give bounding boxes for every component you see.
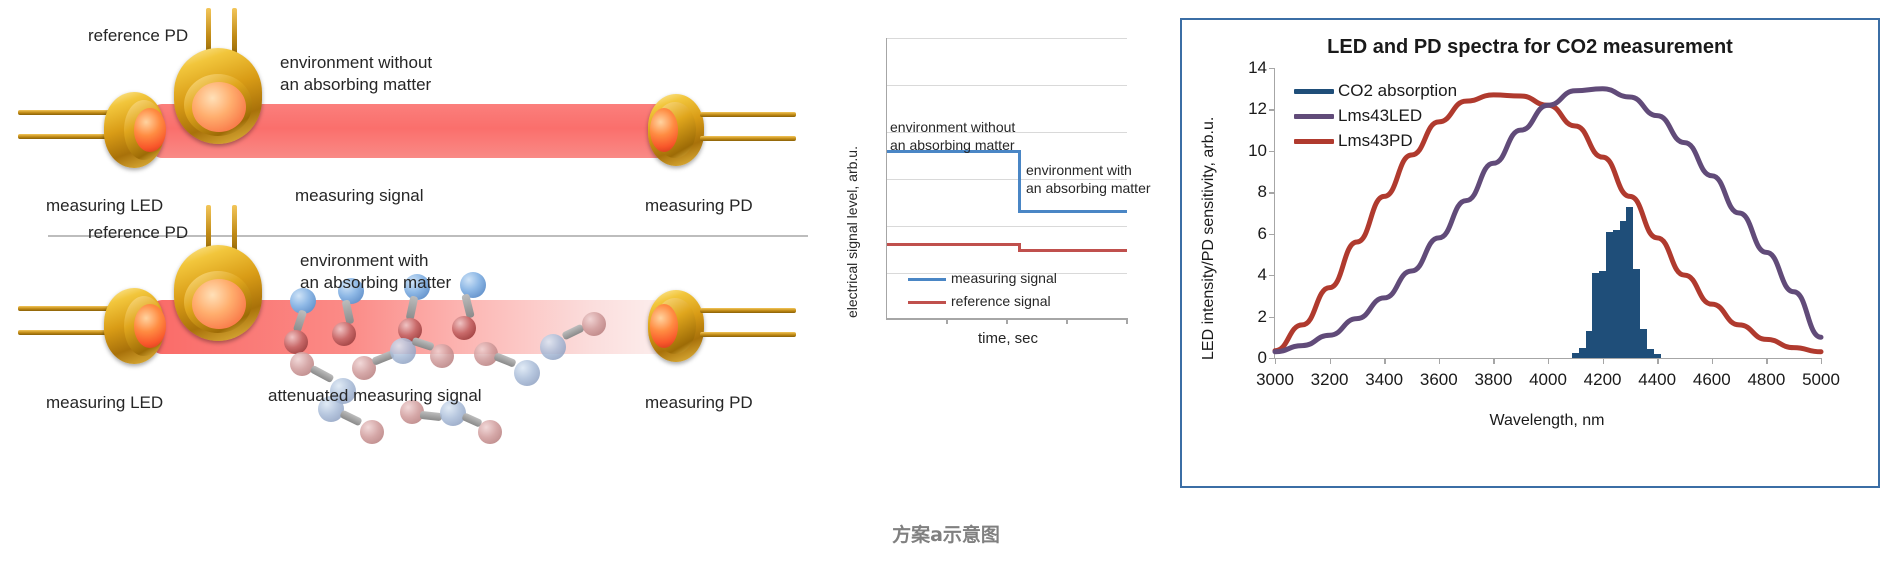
legend-label-reference: reference signal	[951, 293, 1051, 309]
x-tick-label: 3200	[1311, 370, 1349, 390]
label-environment-bottom-line2: an absorbing matter	[300, 272, 451, 294]
y-tick-label: 10	[1248, 141, 1267, 161]
label-measuring-pd-top: measuring PD	[645, 195, 753, 217]
y-tick-label: 2	[1258, 307, 1267, 327]
x-tick	[1821, 358, 1822, 364]
legend-label-led: Lms43LED	[1338, 106, 1422, 125]
signal-legend-measuring: measuring signal	[908, 270, 1057, 286]
scheme-illustration: reference PD environment without an abso…	[0, 0, 830, 510]
reference-signal-segment	[887, 243, 1020, 246]
spectra-legend: CO2 absorption Lms43LED Lms43PD	[1294, 78, 1457, 153]
measuring-signal-step	[1018, 150, 1021, 213]
legend-swatch-co2	[1294, 89, 1334, 94]
x-tick	[1384, 358, 1385, 364]
label-reference-pd-top: reference PD	[88, 25, 188, 47]
x-tick-label: 3800	[1474, 370, 1512, 390]
label-reference-pd-bottom: reference PD	[88, 222, 188, 244]
x-tick	[1006, 318, 1008, 324]
x-tick	[1766, 358, 1767, 364]
figure-caption: 方案a示意图	[0, 520, 1892, 547]
annotation-without-absorber-line2: an absorbing matter	[890, 136, 1015, 154]
annotation-with-absorber-line1: environment with	[1026, 161, 1132, 179]
label-attenuated-signal: attenuated measuring signal	[268, 385, 482, 407]
label-measuring-pd-bottom: measuring PD	[645, 392, 753, 414]
y-tick-label: 8	[1258, 182, 1267, 202]
legend-item-led: Lms43LED	[1294, 103, 1457, 128]
legend-label-co2: CO2 absorption	[1338, 81, 1457, 100]
x-tick-label: 4400	[1638, 370, 1676, 390]
x-tick-label: 3400	[1365, 370, 1403, 390]
label-environment-top-line1: environment without	[280, 52, 432, 74]
x-tick-label: 3000	[1256, 370, 1294, 390]
x-tick	[1712, 358, 1713, 364]
label-measuring-led-top: measuring LED	[46, 195, 163, 217]
legend-item-co2: CO2 absorption	[1294, 78, 1457, 103]
x-tick	[1066, 318, 1068, 324]
label-measuring-led-bottom: measuring LED	[46, 392, 163, 414]
x-tick-label: 3600	[1420, 370, 1458, 390]
x-tick	[1493, 358, 1494, 364]
legend-item-pd: Lms43PD	[1294, 128, 1457, 153]
annotation-with-absorber-line2: an absorbing matter	[1026, 179, 1151, 197]
x-tick	[1439, 358, 1440, 364]
y-tick-label: 6	[1258, 224, 1267, 244]
signal-chart-ylabel: electrical signal level, arb.u.	[844, 146, 860, 318]
label-environment-bottom-line1: environment with	[300, 250, 429, 272]
label-measuring-signal-top: measuring signal	[295, 185, 424, 207]
x-tick	[946, 318, 948, 324]
spectra-chart-title: LED and PD spectra for CO2 measurement	[1182, 36, 1878, 59]
gridline	[887, 226, 1127, 227]
spectra-chart-xlabel: Wavelength, nm	[1274, 412, 1820, 430]
x-tick	[1330, 358, 1331, 364]
x-tick	[1126, 318, 1128, 324]
signal-legend-reference: reference signal	[908, 293, 1051, 309]
measuring-signal-segment	[1018, 210, 1127, 213]
legend-label-pd: Lms43PD	[1338, 131, 1413, 150]
spectra-chart: LED and PD spectra for CO2 measurement L…	[1180, 18, 1880, 488]
x-tick	[1275, 358, 1276, 364]
legend-swatch-measuring	[908, 278, 946, 281]
x-tick	[1548, 358, 1549, 364]
x-tick	[1603, 358, 1604, 364]
x-tick-label: 4600	[1693, 370, 1731, 390]
legend-swatch-pd	[1294, 139, 1334, 144]
x-tick-label: 4800	[1747, 370, 1785, 390]
x-tick-label: 5000	[1802, 370, 1840, 390]
y-tick-label: 14	[1248, 58, 1267, 78]
label-environment-top-line2: an absorbing matter	[280, 74, 431, 96]
x-tick-label: 4000	[1529, 370, 1567, 390]
y-tick-label: 4	[1258, 265, 1267, 285]
gridline	[887, 85, 1127, 86]
reference-signal-segment	[1018, 249, 1127, 252]
legend-swatch-reference	[908, 301, 946, 304]
signal-level-chart: electrical signal level, arb.u. environm…	[828, 28, 1138, 358]
legend-label-measuring: measuring signal	[951, 270, 1057, 286]
spectra-chart-ylabel: LED intensity/PD sensitivity, arb.u.	[1200, 117, 1218, 360]
annotation-without-absorber-line1: environment without	[890, 118, 1015, 136]
signal-chart-xlabel: time, sec	[978, 330, 1038, 347]
legend-swatch-led	[1294, 114, 1334, 119]
x-tick-label: 4200	[1584, 370, 1622, 390]
gridline	[887, 38, 1127, 39]
y-tick-label: 0	[1258, 348, 1267, 368]
y-tick-label: 12	[1248, 99, 1267, 119]
x-tick	[1657, 358, 1658, 364]
